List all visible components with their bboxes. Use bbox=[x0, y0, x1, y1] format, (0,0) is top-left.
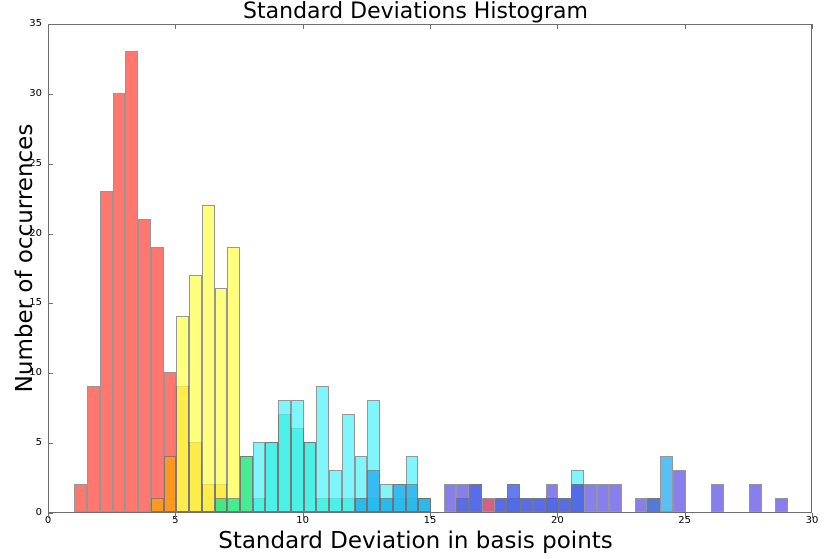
histogram-bar bbox=[647, 498, 660, 512]
x-tick-mark bbox=[557, 513, 558, 518]
histogram-bar bbox=[227, 247, 240, 512]
histogram-bar bbox=[406, 484, 419, 512]
histogram-bar bbox=[291, 400, 304, 512]
histogram-bar bbox=[418, 498, 431, 512]
histogram-bar bbox=[278, 400, 291, 512]
histogram-bar bbox=[125, 51, 138, 512]
x-tick-mark bbox=[812, 513, 813, 518]
y-tick-mark bbox=[48, 373, 53, 374]
histogram-bar bbox=[711, 484, 724, 512]
histogram-bar bbox=[609, 484, 622, 512]
x-tick-mark bbox=[303, 513, 304, 518]
y-tick-mark bbox=[48, 94, 53, 95]
histogram-bar bbox=[316, 386, 329, 512]
histogram-bar bbox=[202, 205, 215, 512]
histogram-bar bbox=[227, 498, 240, 512]
histogram-bar bbox=[533, 498, 546, 512]
histogram-bar bbox=[367, 470, 380, 512]
x-tick-mark-top bbox=[685, 24, 686, 29]
x-tick-mark-top bbox=[812, 24, 813, 29]
x-tick-mark bbox=[685, 513, 686, 518]
histogram-bar bbox=[138, 219, 151, 512]
histogram-bar bbox=[87, 386, 100, 512]
chart-title: Standard Deviations Histogram bbox=[0, 0, 831, 24]
histogram-bar bbox=[215, 288, 228, 512]
histogram-bar bbox=[304, 442, 317, 512]
histogram-bar bbox=[495, 498, 508, 512]
histogram-bar bbox=[660, 456, 673, 512]
histogram-bar bbox=[380, 498, 393, 512]
histogram-bar bbox=[546, 484, 559, 512]
x-tick-mark-top bbox=[175, 24, 176, 29]
histogram-bar bbox=[189, 275, 202, 513]
histogram-bar bbox=[329, 470, 342, 512]
histogram-bar bbox=[265, 442, 278, 512]
histogram-bar bbox=[342, 414, 355, 512]
histogram-bar bbox=[176, 316, 189, 512]
histogram-figure: Standard Deviations Histogram 0510152025… bbox=[0, 0, 831, 559]
histogram-bar bbox=[151, 247, 164, 512]
histogram-bar bbox=[456, 484, 469, 512]
histogram-bar bbox=[100, 191, 113, 512]
x-tick-mark-top bbox=[303, 24, 304, 29]
x-tick-mark-top bbox=[48, 24, 49, 29]
histogram-bar bbox=[393, 484, 406, 512]
histogram-bar bbox=[469, 484, 482, 512]
histogram-bar bbox=[151, 498, 164, 512]
histogram-bar bbox=[355, 498, 368, 512]
histogram-bar bbox=[240, 456, 253, 512]
histogram-bar bbox=[749, 484, 762, 512]
y-tick-mark bbox=[48, 443, 53, 444]
x-tick-mark-top bbox=[430, 24, 431, 29]
histogram-bar bbox=[215, 498, 228, 512]
x-tick-mark bbox=[430, 513, 431, 518]
y-tick-mark bbox=[48, 234, 53, 235]
y-axis-label: Number of occurrences bbox=[12, 28, 38, 488]
histogram-bar bbox=[164, 456, 177, 512]
x-tick-mark-top bbox=[557, 24, 558, 29]
histogram-bar bbox=[571, 484, 584, 512]
histogram-bar bbox=[597, 484, 610, 512]
x-tick-mark bbox=[175, 513, 176, 518]
plot-area bbox=[48, 24, 812, 513]
x-tick-mark bbox=[48, 513, 49, 518]
histogram-bar bbox=[482, 498, 495, 512]
histogram-bar bbox=[444, 484, 457, 512]
histogram-bar bbox=[507, 484, 520, 512]
histogram-bar bbox=[113, 93, 126, 512]
histogram-bar bbox=[74, 484, 87, 512]
y-tick-mark bbox=[48, 164, 53, 165]
histogram-bar bbox=[520, 498, 533, 512]
bars-layer bbox=[49, 25, 811, 512]
y-tick-mark bbox=[48, 303, 53, 304]
histogram-bar bbox=[673, 470, 686, 512]
histogram-bar bbox=[584, 484, 597, 512]
histogram-bar bbox=[775, 498, 788, 512]
x-axis-label: Standard Deviation in basis points bbox=[0, 528, 831, 554]
histogram-bar bbox=[253, 442, 266, 512]
histogram-bar bbox=[558, 498, 571, 512]
histogram-bar bbox=[635, 498, 648, 512]
